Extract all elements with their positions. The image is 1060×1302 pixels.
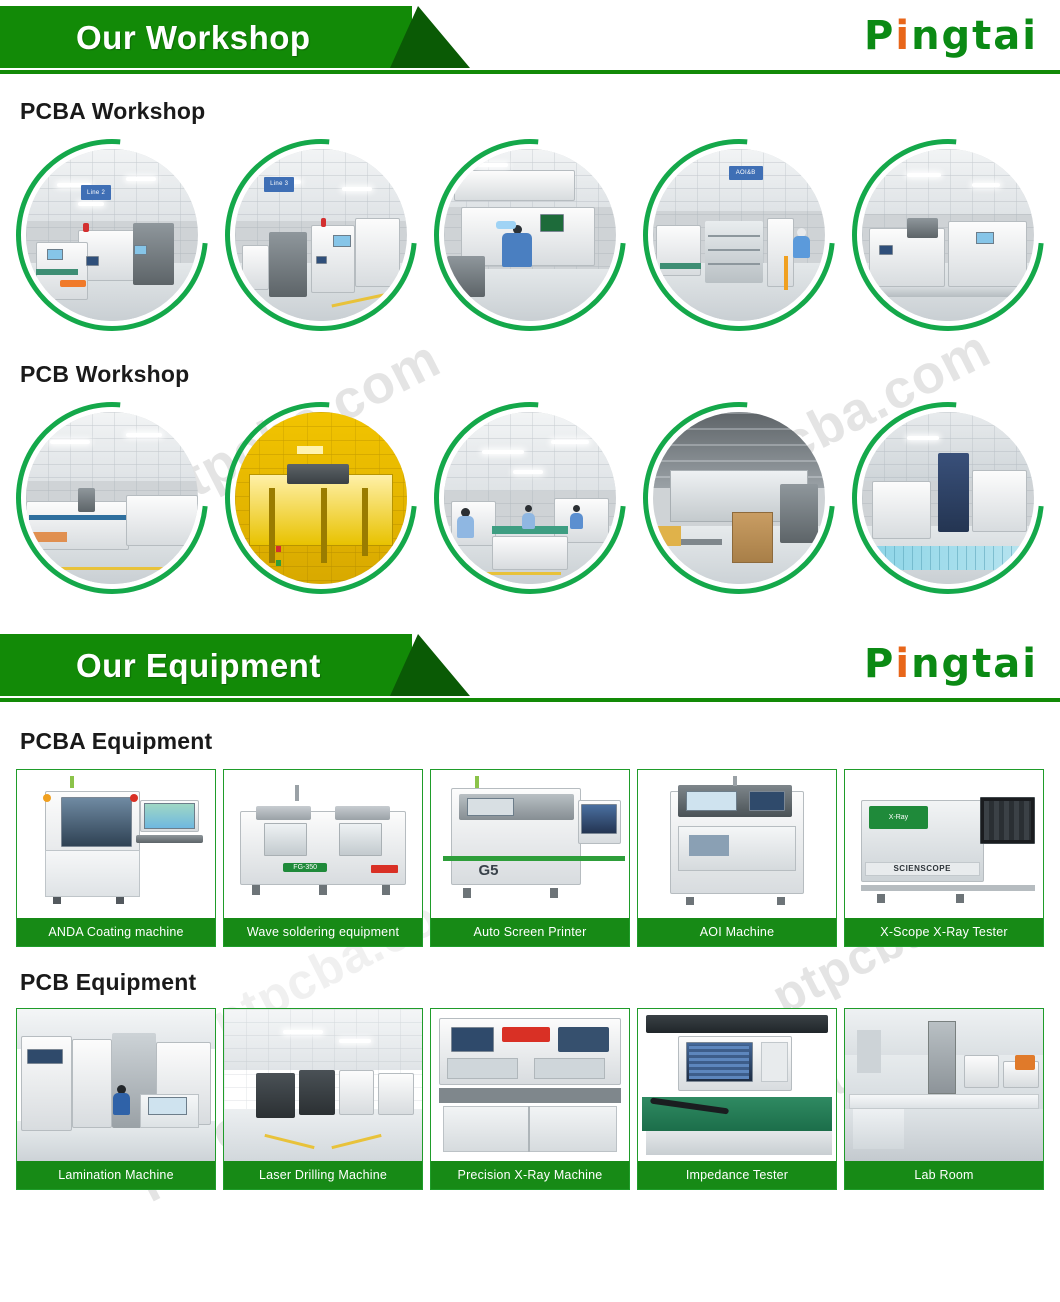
circle-ring xyxy=(604,363,874,633)
circle-ring xyxy=(186,100,456,370)
circle-ring xyxy=(395,363,665,633)
workshop-circle[interactable]: Line 2 xyxy=(16,139,208,331)
equipment-photo xyxy=(17,770,215,918)
brand-logo: Pingtai xyxy=(864,640,1038,688)
equipment-card[interactable]: Precision X-Ray Machine xyxy=(430,1008,630,1190)
logo-accent-letter: i xyxy=(895,641,911,687)
equipment-photo: X-Ray SCIENSCOPE xyxy=(845,770,1043,918)
brand-logo-text: Pingtai xyxy=(864,13,1038,59)
circle-ring xyxy=(0,363,247,633)
heading-pcb-equipment: PCB Equipment xyxy=(0,947,1060,1008)
banner-our-equipment: Our Equipment Pingtai xyxy=(0,634,1060,702)
circle-ring xyxy=(395,100,665,370)
workshop-circle[interactable] xyxy=(852,402,1044,594)
equipment-card[interactable]: AOI Machine xyxy=(637,769,837,947)
equipment-photo xyxy=(17,1009,215,1161)
workshop-circle[interactable]: Line 3 xyxy=(225,139,417,331)
equipment-label: AOI Machine xyxy=(638,918,836,946)
section-heading-text: PCBA Equipment xyxy=(20,728,212,754)
equipment-photo: G5 xyxy=(431,770,629,918)
equipment-card[interactable]: Lab Room xyxy=(844,1008,1044,1190)
circle-ring xyxy=(604,100,874,370)
heading-pcba-equipment: PCBA Equipment xyxy=(0,702,1060,769)
section-heading-text: PCBA Workshop xyxy=(20,98,205,124)
circle-ring xyxy=(0,100,247,370)
banner-underline xyxy=(0,698,1060,702)
banner-triangle-dark xyxy=(390,634,470,696)
pcb-equipment-row: Lamination Machine Laser Drill xyxy=(0,1008,1060,1190)
section-heading-text: PCB Workshop xyxy=(20,361,189,387)
circle-ring xyxy=(813,363,1060,633)
machine-badge: X-Ray xyxy=(869,806,928,830)
equipment-label: Precision X-Ray Machine xyxy=(431,1161,629,1189)
pcba-equipment-row: ANDA Coating machine FG-350 Wav xyxy=(0,769,1060,947)
machine-badge: FG-350 xyxy=(283,863,327,872)
page-root: ptpcba.com ptpcba.com ptpcba.com ptpcba.… xyxy=(0,0,1060,1302)
equipment-label: Impedance Tester xyxy=(638,1161,836,1189)
equipment-label: Lab Room xyxy=(845,1161,1043,1189)
equipment-card[interactable]: ANDA Coating machine xyxy=(16,769,216,947)
equipment-photo xyxy=(431,1009,629,1161)
equipment-label: X-Scope X-Ray Tester xyxy=(845,918,1043,946)
workshop-circle[interactable] xyxy=(852,139,1044,331)
worker xyxy=(108,1085,134,1129)
banner-underline xyxy=(0,70,1060,74)
equipment-card[interactable]: FG-350 Wave soldering equipment xyxy=(223,769,423,947)
workshop-circle[interactable] xyxy=(434,139,626,331)
equipment-photo xyxy=(638,770,836,918)
workshop-circle[interactable]: AOI&B xyxy=(643,139,835,331)
banner-triangle-dark xyxy=(390,6,470,68)
logo-accent-letter: i xyxy=(895,13,911,59)
equipment-label: ANDA Coating machine xyxy=(17,918,215,946)
section-heading-text: PCB Equipment xyxy=(20,969,196,995)
equipment-card[interactable]: Laser Drilling Machine xyxy=(223,1008,423,1190)
equipment-card[interactable]: Lamination Machine xyxy=(16,1008,216,1190)
workshop-circle[interactable] xyxy=(225,402,417,594)
banner-our-workshop: Our Workshop Pingtai xyxy=(0,6,1060,74)
equipment-card[interactable]: X-Ray SCIENSCOPE X-Scope X-Ray Tester xyxy=(844,769,1044,947)
brand-logo-text: Pingtai xyxy=(864,641,1038,687)
workshop-circle[interactable] xyxy=(434,402,626,594)
equipment-card[interactable]: G5 Auto Screen Printer xyxy=(430,769,630,947)
equipment-photo xyxy=(638,1009,836,1161)
workshop-circle[interactable] xyxy=(16,402,208,594)
equipment-photo xyxy=(845,1009,1043,1161)
equipment-label: Wave soldering equipment xyxy=(224,918,422,946)
banner-title: Our Workshop xyxy=(76,18,311,58)
equipment-card[interactable]: Impedance Tester xyxy=(637,1008,837,1190)
pcb-workshop-circle-row xyxy=(0,402,1060,594)
equipment-photo: FG-350 xyxy=(224,770,422,918)
pcba-workshop-circle-row: Line 2 xyxy=(0,139,1060,331)
brand-logo: Pingtai xyxy=(864,12,1038,60)
machine-badge: SCIENSCOPE xyxy=(865,862,980,876)
heading-pcba-workshop: PCBA Workshop xyxy=(0,74,1060,139)
heading-pcb-workshop: PCB Workshop xyxy=(0,331,1060,402)
equipment-label: Auto Screen Printer xyxy=(431,918,629,946)
machine-badge: G5 xyxy=(479,862,542,876)
equipment-label: Lamination Machine xyxy=(17,1161,215,1189)
equipment-label: Laser Drilling Machine xyxy=(224,1161,422,1189)
equipment-photo xyxy=(224,1009,422,1161)
circle-ring xyxy=(186,363,456,633)
banner-title: Our Equipment xyxy=(76,646,321,686)
circle-ring xyxy=(813,100,1060,370)
workshop-circle[interactable] xyxy=(643,402,835,594)
